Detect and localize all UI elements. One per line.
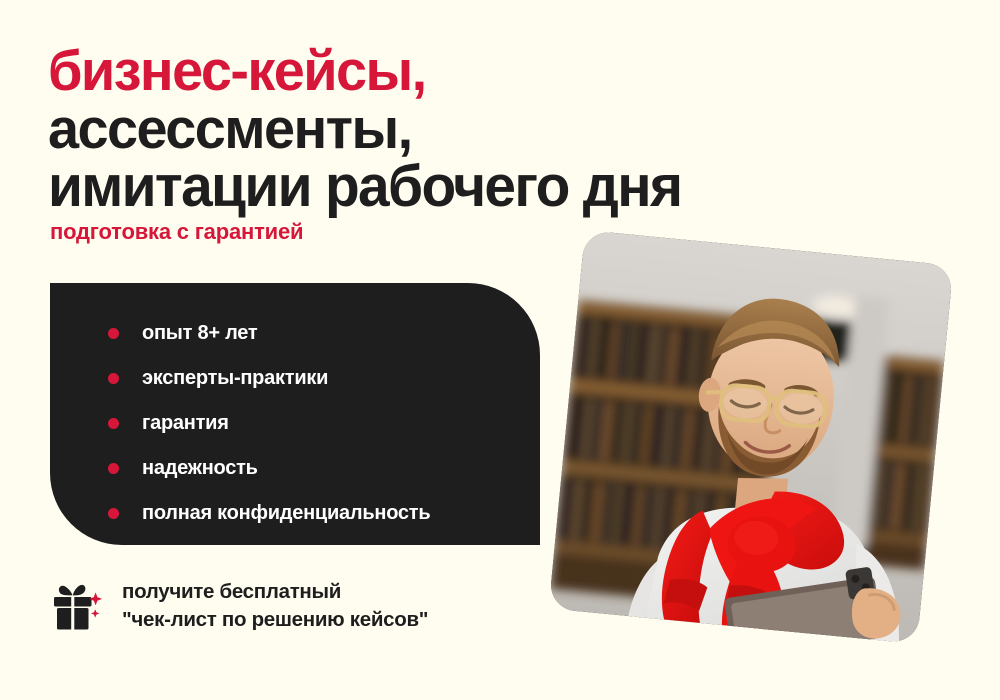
subtitle: подготовка с гарантией (50, 219, 303, 245)
feature-list: опыт 8+ лет эксперты-практики гарантия н… (50, 311, 540, 536)
bullet-dot-icon (108, 463, 119, 474)
headline-line-2: ассессменты, (48, 100, 940, 158)
headline-line-3: имитации рабочего дня (48, 158, 940, 216)
photo-illustration (549, 230, 954, 644)
gift-icon (50, 578, 108, 634)
feature-item-confidentiality: полная конфиденциальность (50, 491, 540, 536)
features-card: опыт 8+ лет эксперты-практики гарантия н… (50, 283, 540, 545)
bullet-dot-icon (108, 328, 119, 339)
man-with-tablet-in-library-photo (549, 230, 954, 644)
feature-item-reliability: надежность (50, 446, 540, 491)
bonus-line-2: "чек-лист по решению кейсов" (122, 606, 428, 634)
bullet-dot-icon (108, 373, 119, 384)
feature-label: эксперты-практики (142, 367, 328, 390)
feature-label: опыт 8+ лет (142, 322, 257, 345)
bullet-dot-icon (108, 418, 119, 429)
bonus-text-block: получите бесплатный "чек-лист по решению… (122, 578, 428, 634)
bonus-offer: получите бесплатный "чек-лист по решению… (50, 578, 428, 634)
bullet-dot-icon (108, 508, 119, 519)
feature-item-experience: опыт 8+ лет (50, 311, 540, 356)
headline-line-1: бизнес-кейсы, (48, 42, 940, 100)
page-title: бизнес-кейсы, ассессменты, имитации рабо… (48, 42, 958, 216)
feature-item-guarantee: гарантия (50, 401, 540, 446)
feature-label: полная конфиденциальность (142, 502, 430, 525)
feature-item-experts: эксперты-практики (50, 356, 540, 401)
photo-inner (549, 230, 954, 644)
poster-canvas: бизнес-кейсы, ассессменты, имитации рабо… (0, 0, 1000, 700)
feature-label: гарантия (142, 412, 229, 435)
bonus-line-1: получите бесплатный (122, 578, 428, 606)
feature-label: надежность (142, 457, 258, 480)
